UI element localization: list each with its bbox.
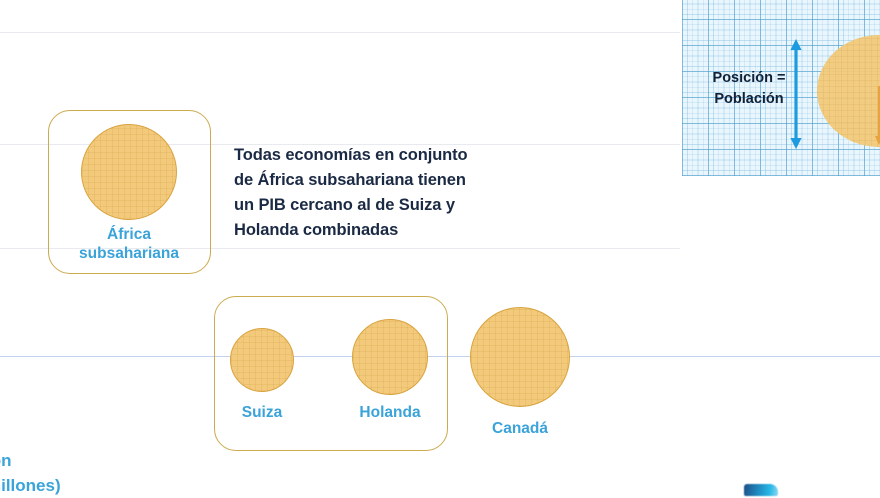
vertical-double-arrow-icon — [788, 38, 804, 150]
inset-label-line2: Población — [714, 91, 783, 107]
gridline-1 — [0, 32, 680, 33]
annotation-callout: Todas economías en conjunto de África su… — [234, 143, 544, 243]
bubble-suiza[interactable] — [230, 328, 294, 392]
callout-line-1: Todas economías en conjunto — [234, 146, 468, 164]
bubble-canada[interactable] — [470, 307, 570, 407]
inset-bubble — [817, 35, 880, 147]
slide-canvas: África subsahariana Suiza Holanda Canadá… — [0, 0, 880, 495]
y-axis-title-line1: ión — [0, 451, 12, 470]
bubble-holanda[interactable] — [352, 319, 428, 395]
bubble-label-suiza: Suiza — [202, 403, 322, 422]
partial-logo-icon — [744, 484, 778, 496]
callout-line-3: un PIB cercano al de Suiza y — [234, 196, 455, 214]
bubble-label-holanda: Holanda — [330, 403, 450, 422]
bubble-radius-arrow-icon — [874, 86, 880, 146]
posicion-poblacion-inset: Posición = Población — [682, 0, 880, 176]
y-axis-title: ión millones) — [0, 448, 61, 498]
bubble-label-africa: África subsahariana — [59, 225, 199, 263]
y-axis-title-line2: millones) — [0, 476, 61, 495]
bubble-label-africa-line1: África — [107, 226, 151, 243]
inset-label-line1: Posición = — [713, 70, 786, 86]
callout-line-4: Holanda combinadas — [234, 221, 398, 239]
callout-line-2: de África subsahariana tienen — [234, 171, 466, 189]
bubble-africa-subsahariana[interactable] — [81, 124, 177, 220]
bubble-label-canada: Canadá — [460, 419, 580, 438]
bubble-label-africa-line2: subsahariana — [79, 245, 179, 262]
